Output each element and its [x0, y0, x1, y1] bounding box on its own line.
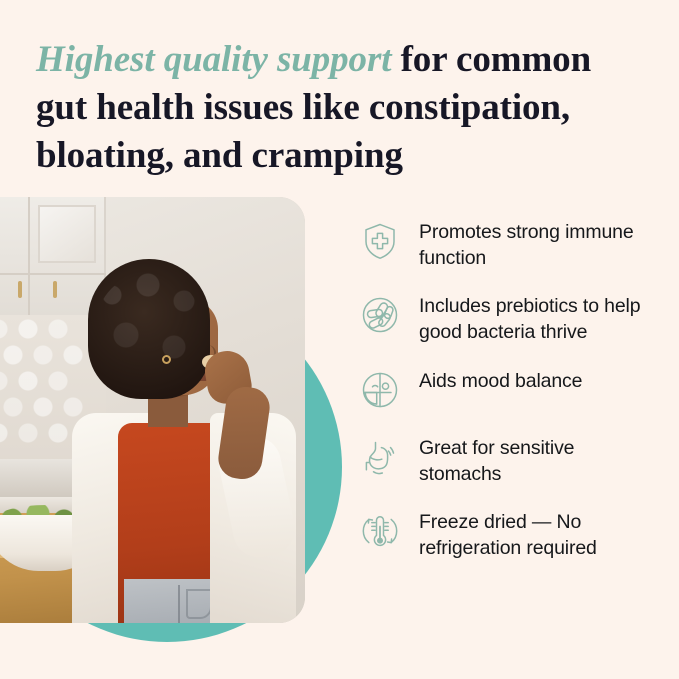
jeans-seam — [178, 585, 180, 623]
bacteria-circle-icon — [357, 292, 403, 338]
hoop-earring — [162, 355, 171, 364]
feature-item-prebiotics: Includes prebiotics to help good bacteri… — [357, 292, 657, 345]
feature-label: Promotes strong immune function — [419, 218, 657, 271]
curly-hair — [88, 259, 210, 399]
feature-item-immune: Promotes strong immune function — [357, 218, 657, 271]
feature-label: Great for sensitive stomachs — [419, 434, 657, 487]
person-figure — [74, 227, 305, 623]
feature-label: Aids mood balance — [419, 367, 582, 395]
shield-cross-icon — [357, 218, 403, 264]
photo-scene — [0, 197, 305, 623]
thermometer-freeze-icon — [357, 508, 403, 554]
lifestyle-photo — [0, 197, 305, 623]
cabinet-handle-left — [18, 281, 22, 298]
feature-item-freeze-dried: Freeze dried — No refrigeration required — [357, 508, 657, 561]
cabinet-divider-vertical — [28, 197, 30, 315]
feature-item-sensitive-stomach: Great for sensitive stomachs — [357, 434, 657, 487]
page-headline: Highest quality support for common gut h… — [36, 36, 636, 180]
feature-item-mood: Aids mood balance — [357, 367, 657, 413]
headline-accent-text: Highest quality support — [36, 39, 391, 80]
kitchen-sink — [0, 459, 76, 499]
feature-label: Freeze dried — No refrigeration required — [419, 508, 657, 561]
feature-list: Promotes strong immune function Includes… — [357, 218, 657, 562]
stomach-icon — [357, 434, 403, 480]
mood-face-icon — [357, 367, 403, 413]
cabinet-handle-right — [53, 281, 57, 298]
feature-label: Includes prebiotics to help good bacteri… — [419, 292, 657, 345]
jeans-pocket — [186, 589, 212, 619]
